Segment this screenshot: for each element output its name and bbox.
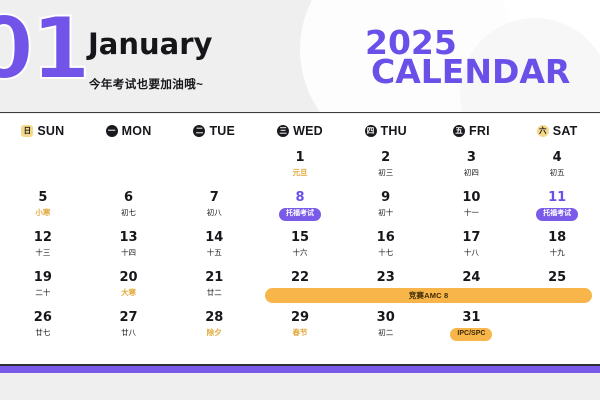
weekday-glyph-icon: 二 bbox=[193, 125, 205, 137]
calendar-word: CALENDAR bbox=[371, 55, 570, 88]
weekday-header-wed: 三WED bbox=[257, 124, 343, 138]
day-cell[interactable]: 4初五 bbox=[514, 148, 600, 188]
day-cell[interactable]: 6初七 bbox=[86, 188, 172, 228]
header-divider bbox=[0, 112, 600, 113]
event-badge[interactable]: IPC/SPC bbox=[450, 328, 492, 341]
weekday-glyph-icon: 六 bbox=[537, 125, 549, 137]
day-cell[interactable]: 1元旦 bbox=[257, 148, 343, 188]
day-lunar-label: 十七 bbox=[378, 249, 393, 257]
weekday-label: SUN bbox=[37, 124, 64, 138]
header-tagline: 今年考试也要加油哦~ bbox=[89, 76, 203, 92]
day-cell[interactable]: 11托福考试 bbox=[514, 188, 600, 228]
day-cell[interactable]: 14十五 bbox=[171, 228, 257, 268]
day-lunar-label: 十六 bbox=[292, 249, 307, 257]
day-lunar-label: 十三 bbox=[35, 249, 50, 257]
day-number: 28 bbox=[205, 311, 223, 326]
weekday-glyph-icon: 一 bbox=[106, 125, 118, 137]
weekday-label: FRI bbox=[469, 124, 490, 138]
day-number: 5 bbox=[38, 191, 47, 206]
weekday-header-mon: 一MON bbox=[86, 124, 172, 138]
event-badge[interactable]: 托福考试 bbox=[279, 208, 321, 221]
day-cell[interactable]: 8托福考试 bbox=[257, 188, 343, 228]
day-number: 19 bbox=[34, 271, 52, 286]
day-number: 8 bbox=[295, 191, 304, 206]
weekday-label: THU bbox=[381, 124, 407, 138]
day-lunar-label: 初三 bbox=[378, 169, 393, 177]
calendar-week-row: 12十三13十四14十五15十六16十七17十八18十九 bbox=[0, 228, 600, 268]
day-cell-empty bbox=[171, 148, 257, 188]
day-number: 18 bbox=[548, 231, 566, 246]
day-number: 4 bbox=[553, 151, 562, 166]
weekday-header-fri: 五FRI bbox=[429, 124, 515, 138]
day-lunar-label: 除夕 bbox=[207, 329, 222, 337]
day-lunar-label: 小寒 bbox=[35, 209, 50, 217]
day-cell-empty bbox=[86, 148, 172, 188]
weekday-glyph-icon: 五 bbox=[453, 125, 465, 137]
day-number: 23 bbox=[377, 271, 395, 286]
weekday-header-thu: 四THU bbox=[343, 124, 429, 138]
weekday-label: WED bbox=[293, 124, 323, 138]
day-cell[interactable]: 17十八 bbox=[429, 228, 515, 268]
day-cell[interactable]: 20大寒 bbox=[86, 268, 172, 308]
day-number: 6 bbox=[124, 191, 133, 206]
day-cell[interactable]: 18十九 bbox=[514, 228, 600, 268]
day-number: 10 bbox=[462, 191, 480, 206]
day-cell[interactable]: 2初三 bbox=[343, 148, 429, 188]
calendar-week-row: 1元旦2初三3初四4初五 bbox=[0, 148, 600, 188]
day-number: 15 bbox=[291, 231, 309, 246]
day-lunar-label: 廿八 bbox=[121, 329, 136, 337]
weekday-header-row: 日SUN一MON二TUE三WED四THU五FRI六SAT bbox=[0, 114, 600, 148]
day-number: 14 bbox=[205, 231, 223, 246]
day-lunar-label: 元旦 bbox=[292, 169, 307, 177]
day-cell[interactable]: 7初八 bbox=[171, 188, 257, 228]
day-number: 9 bbox=[381, 191, 390, 206]
day-number: 17 bbox=[462, 231, 480, 246]
day-cell[interactable]: 5小寒 bbox=[0, 188, 86, 228]
day-number: 21 bbox=[205, 271, 223, 286]
weekday-glyph-icon: 四 bbox=[365, 125, 377, 137]
weekday-glyph-icon: 日 bbox=[21, 125, 33, 137]
day-number: 25 bbox=[548, 271, 566, 286]
day-lunar-label: 春节 bbox=[292, 329, 307, 337]
day-cell[interactable]: 31IPC/SPC bbox=[429, 308, 515, 348]
weekday-header-sat: 六SAT bbox=[514, 124, 600, 138]
day-lunar-label: 初二 bbox=[378, 329, 393, 337]
day-lunar-label: 初八 bbox=[207, 209, 222, 217]
day-cell[interactable]: 29春节 bbox=[257, 308, 343, 348]
day-lunar-label: 十九 bbox=[550, 249, 565, 257]
day-lunar-label: 初七 bbox=[121, 209, 136, 217]
day-cell[interactable]: 19二十 bbox=[0, 268, 86, 308]
day-cell-empty bbox=[0, 148, 86, 188]
day-lunar-label: 十八 bbox=[464, 249, 479, 257]
weekday-header-sun: 日SUN bbox=[0, 124, 86, 138]
weekday-glyph-icon: 三 bbox=[277, 125, 289, 137]
day-lunar-label: 二十 bbox=[35, 289, 50, 297]
calendar-weeks: 1元旦2初三3初四4初五5小寒6初七7初八8托福考试9初十10十一11托福考试1… bbox=[0, 148, 600, 348]
day-number: 11 bbox=[548, 191, 566, 206]
calendar-week-row: 5小寒6初七7初八8托福考试9初十10十一11托福考试 bbox=[0, 188, 600, 228]
day-lunar-label: 廿七 bbox=[35, 329, 50, 337]
day-number: 3 bbox=[467, 151, 476, 166]
day-cell[interactable]: 27廿八 bbox=[86, 308, 172, 348]
day-cell[interactable]: 28除夕 bbox=[171, 308, 257, 348]
day-cell-empty bbox=[514, 308, 600, 348]
day-number: 13 bbox=[120, 231, 138, 246]
weekday-label: TUE bbox=[209, 124, 235, 138]
day-cell[interactable]: 10十一 bbox=[429, 188, 515, 228]
day-cell[interactable]: 12十三 bbox=[0, 228, 86, 268]
day-lunar-label: 初五 bbox=[550, 169, 565, 177]
day-number: 31 bbox=[462, 311, 480, 326]
footer-background bbox=[0, 373, 600, 400]
calendar-header: 01 January 今年考试也要加油哦~ 2025 CALENDAR bbox=[0, 0, 600, 113]
day-lunar-label: 初四 bbox=[464, 169, 479, 177]
day-lunar-label: 大寒 bbox=[121, 289, 136, 297]
day-lunar-label: 廿二 bbox=[207, 289, 222, 297]
day-cell[interactable]: 9初十 bbox=[343, 188, 429, 228]
event-badge[interactable]: 托福考试 bbox=[536, 208, 578, 221]
weekday-label: MON bbox=[122, 124, 152, 138]
day-number: 12 bbox=[34, 231, 52, 246]
footer-accent-bar bbox=[0, 366, 600, 373]
day-number: 29 bbox=[291, 311, 309, 326]
day-number: 16 bbox=[377, 231, 395, 246]
weekday-header-tue: 二TUE bbox=[171, 124, 257, 138]
day-cell[interactable]: 26廿七 bbox=[0, 308, 86, 348]
multi-day-event-bar[interactable]: 竞赛AMC 8 bbox=[265, 288, 592, 303]
day-number: 30 bbox=[377, 311, 395, 326]
month-name: January bbox=[88, 30, 212, 59]
day-number: 2 bbox=[381, 151, 390, 166]
day-lunar-label: 初十 bbox=[378, 209, 393, 217]
calendar-body: 日SUN一MON二TUE三WED四THU五FRI六SAT 1元旦2初三3初四4初… bbox=[0, 114, 600, 364]
day-number: 20 bbox=[120, 271, 138, 286]
day-number: 7 bbox=[210, 191, 219, 206]
month-number: 01 bbox=[0, 6, 88, 92]
calendar-week-row: 26廿七27廿八28除夕29春节30初二31IPC/SPC bbox=[0, 308, 600, 348]
day-cell[interactable]: 21廿二 bbox=[171, 268, 257, 308]
day-cell[interactable]: 13十四 bbox=[86, 228, 172, 268]
day-number: 24 bbox=[462, 271, 480, 286]
day-cell[interactable]: 3初四 bbox=[429, 148, 515, 188]
day-lunar-label: 十一 bbox=[464, 209, 479, 217]
weekday-label: SAT bbox=[553, 124, 578, 138]
day-cell[interactable]: 15十六 bbox=[257, 228, 343, 268]
day-cell[interactable]: 16十七 bbox=[343, 228, 429, 268]
day-number: 27 bbox=[120, 311, 138, 326]
day-lunar-label: 十四 bbox=[121, 249, 136, 257]
day-number: 1 bbox=[295, 151, 304, 166]
calendar-page: 01 January 今年考试也要加油哦~ 2025 CALENDAR 日SUN… bbox=[0, 0, 600, 400]
day-number: 26 bbox=[34, 311, 52, 326]
day-number: 22 bbox=[291, 271, 309, 286]
day-lunar-label: 十五 bbox=[207, 249, 222, 257]
day-cell[interactable]: 30初二 bbox=[343, 308, 429, 348]
